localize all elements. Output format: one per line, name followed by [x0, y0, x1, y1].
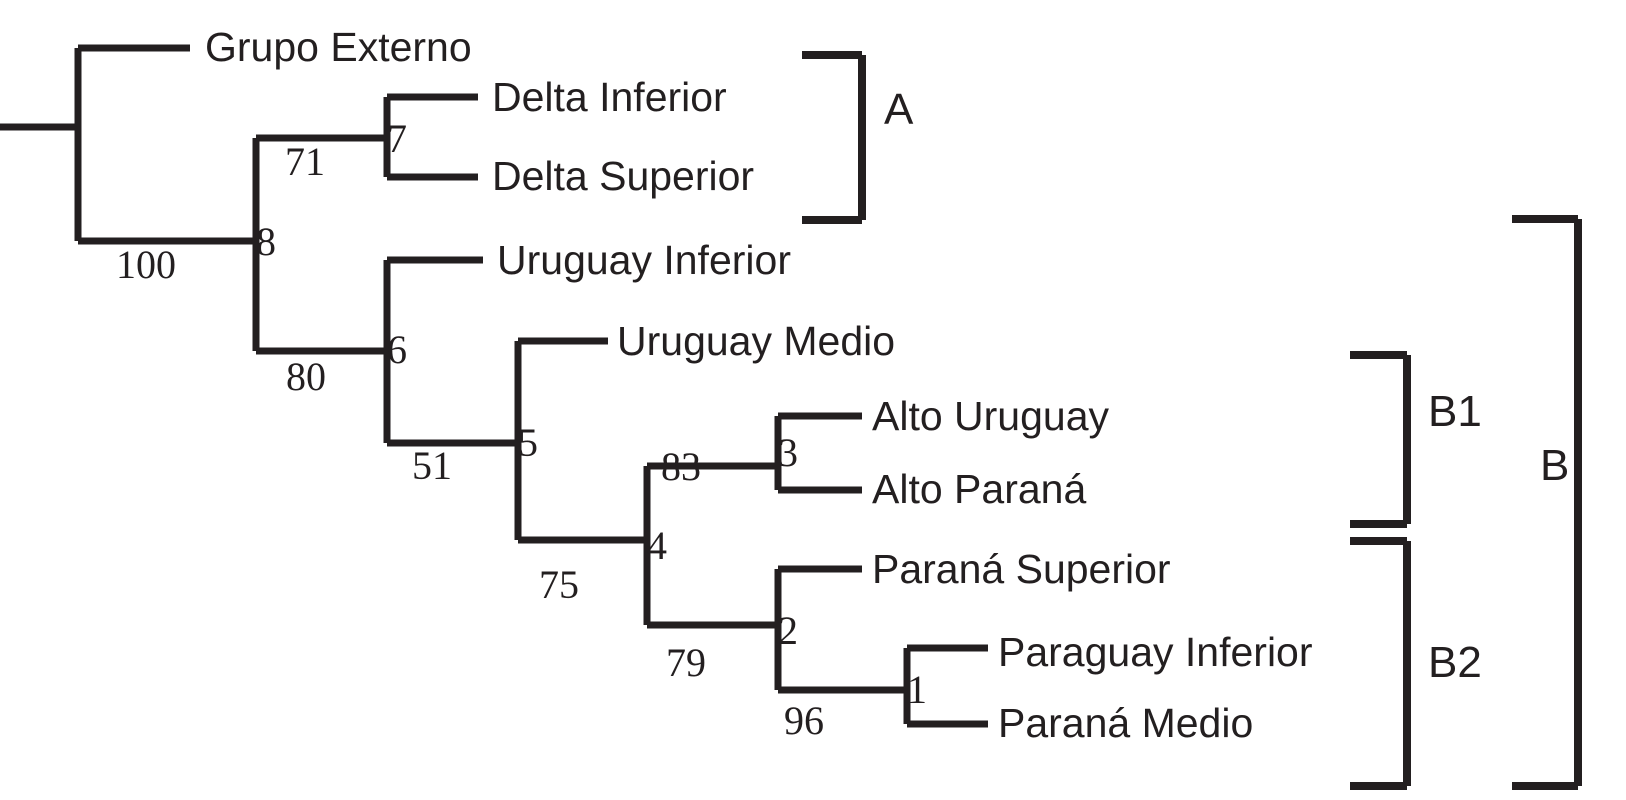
taxon-label-alto-parana: Alto Paraná — [872, 469, 1086, 510]
clade-label-clade-B1: B1 — [1428, 390, 1482, 434]
taxon-label-delta-inferior: Delta Inferior — [492, 77, 727, 118]
clade-label-clade-B2: B2 — [1428, 641, 1482, 685]
support-value-support-51: 51 — [412, 446, 452, 486]
node-label-node-6: 6 — [387, 330, 407, 370]
support-value-support-96: 96 — [784, 701, 824, 741]
support-value-support-80: 80 — [286, 357, 326, 397]
taxon-label-uruguay-inferior: Uruguay Inferior — [497, 240, 791, 281]
taxon-label-paraguay-inferior: Paraguay Inferior — [998, 632, 1313, 673]
taxon-label-parana-medio: Paraná Medio — [998, 703, 1253, 744]
support-value-support-100: 100 — [116, 245, 176, 285]
node-label-node-2: 2 — [778, 611, 798, 651]
node-label-node-4: 4 — [647, 526, 667, 566]
taxon-label-parana-superior: Paraná Superior — [872, 549, 1171, 590]
node-label-node-8: 8 — [256, 222, 276, 262]
tree-branches-canvas — [0, 0, 1626, 800]
clade-label-clade-A: A — [884, 88, 913, 132]
taxon-label-delta-superior: Delta Superior — [492, 156, 754, 197]
support-value-support-75: 75 — [539, 565, 579, 605]
taxon-label-alto-uruguay: Alto Uruguay — [872, 396, 1109, 437]
node-label-node-3: 3 — [778, 433, 798, 473]
branch-lines — [0, 48, 988, 724]
support-value-support-71: 71 — [285, 142, 325, 182]
node-label-node-1: 1 — [907, 670, 927, 710]
phylogenetic-tree-figure: Grupo ExternoDelta InferiorDelta Superio… — [0, 0, 1626, 800]
taxon-label-uruguay-medio: Uruguay Medio — [617, 321, 895, 362]
node-label-node-5: 5 — [518, 423, 538, 463]
support-value-support-79: 79 — [666, 643, 706, 683]
taxon-label-grupo-externo: Grupo Externo — [205, 27, 472, 68]
clade-label-clade-B: B — [1540, 444, 1569, 488]
support-value-support-83: 83 — [661, 447, 701, 487]
node-label-node-7: 7 — [387, 119, 407, 159]
